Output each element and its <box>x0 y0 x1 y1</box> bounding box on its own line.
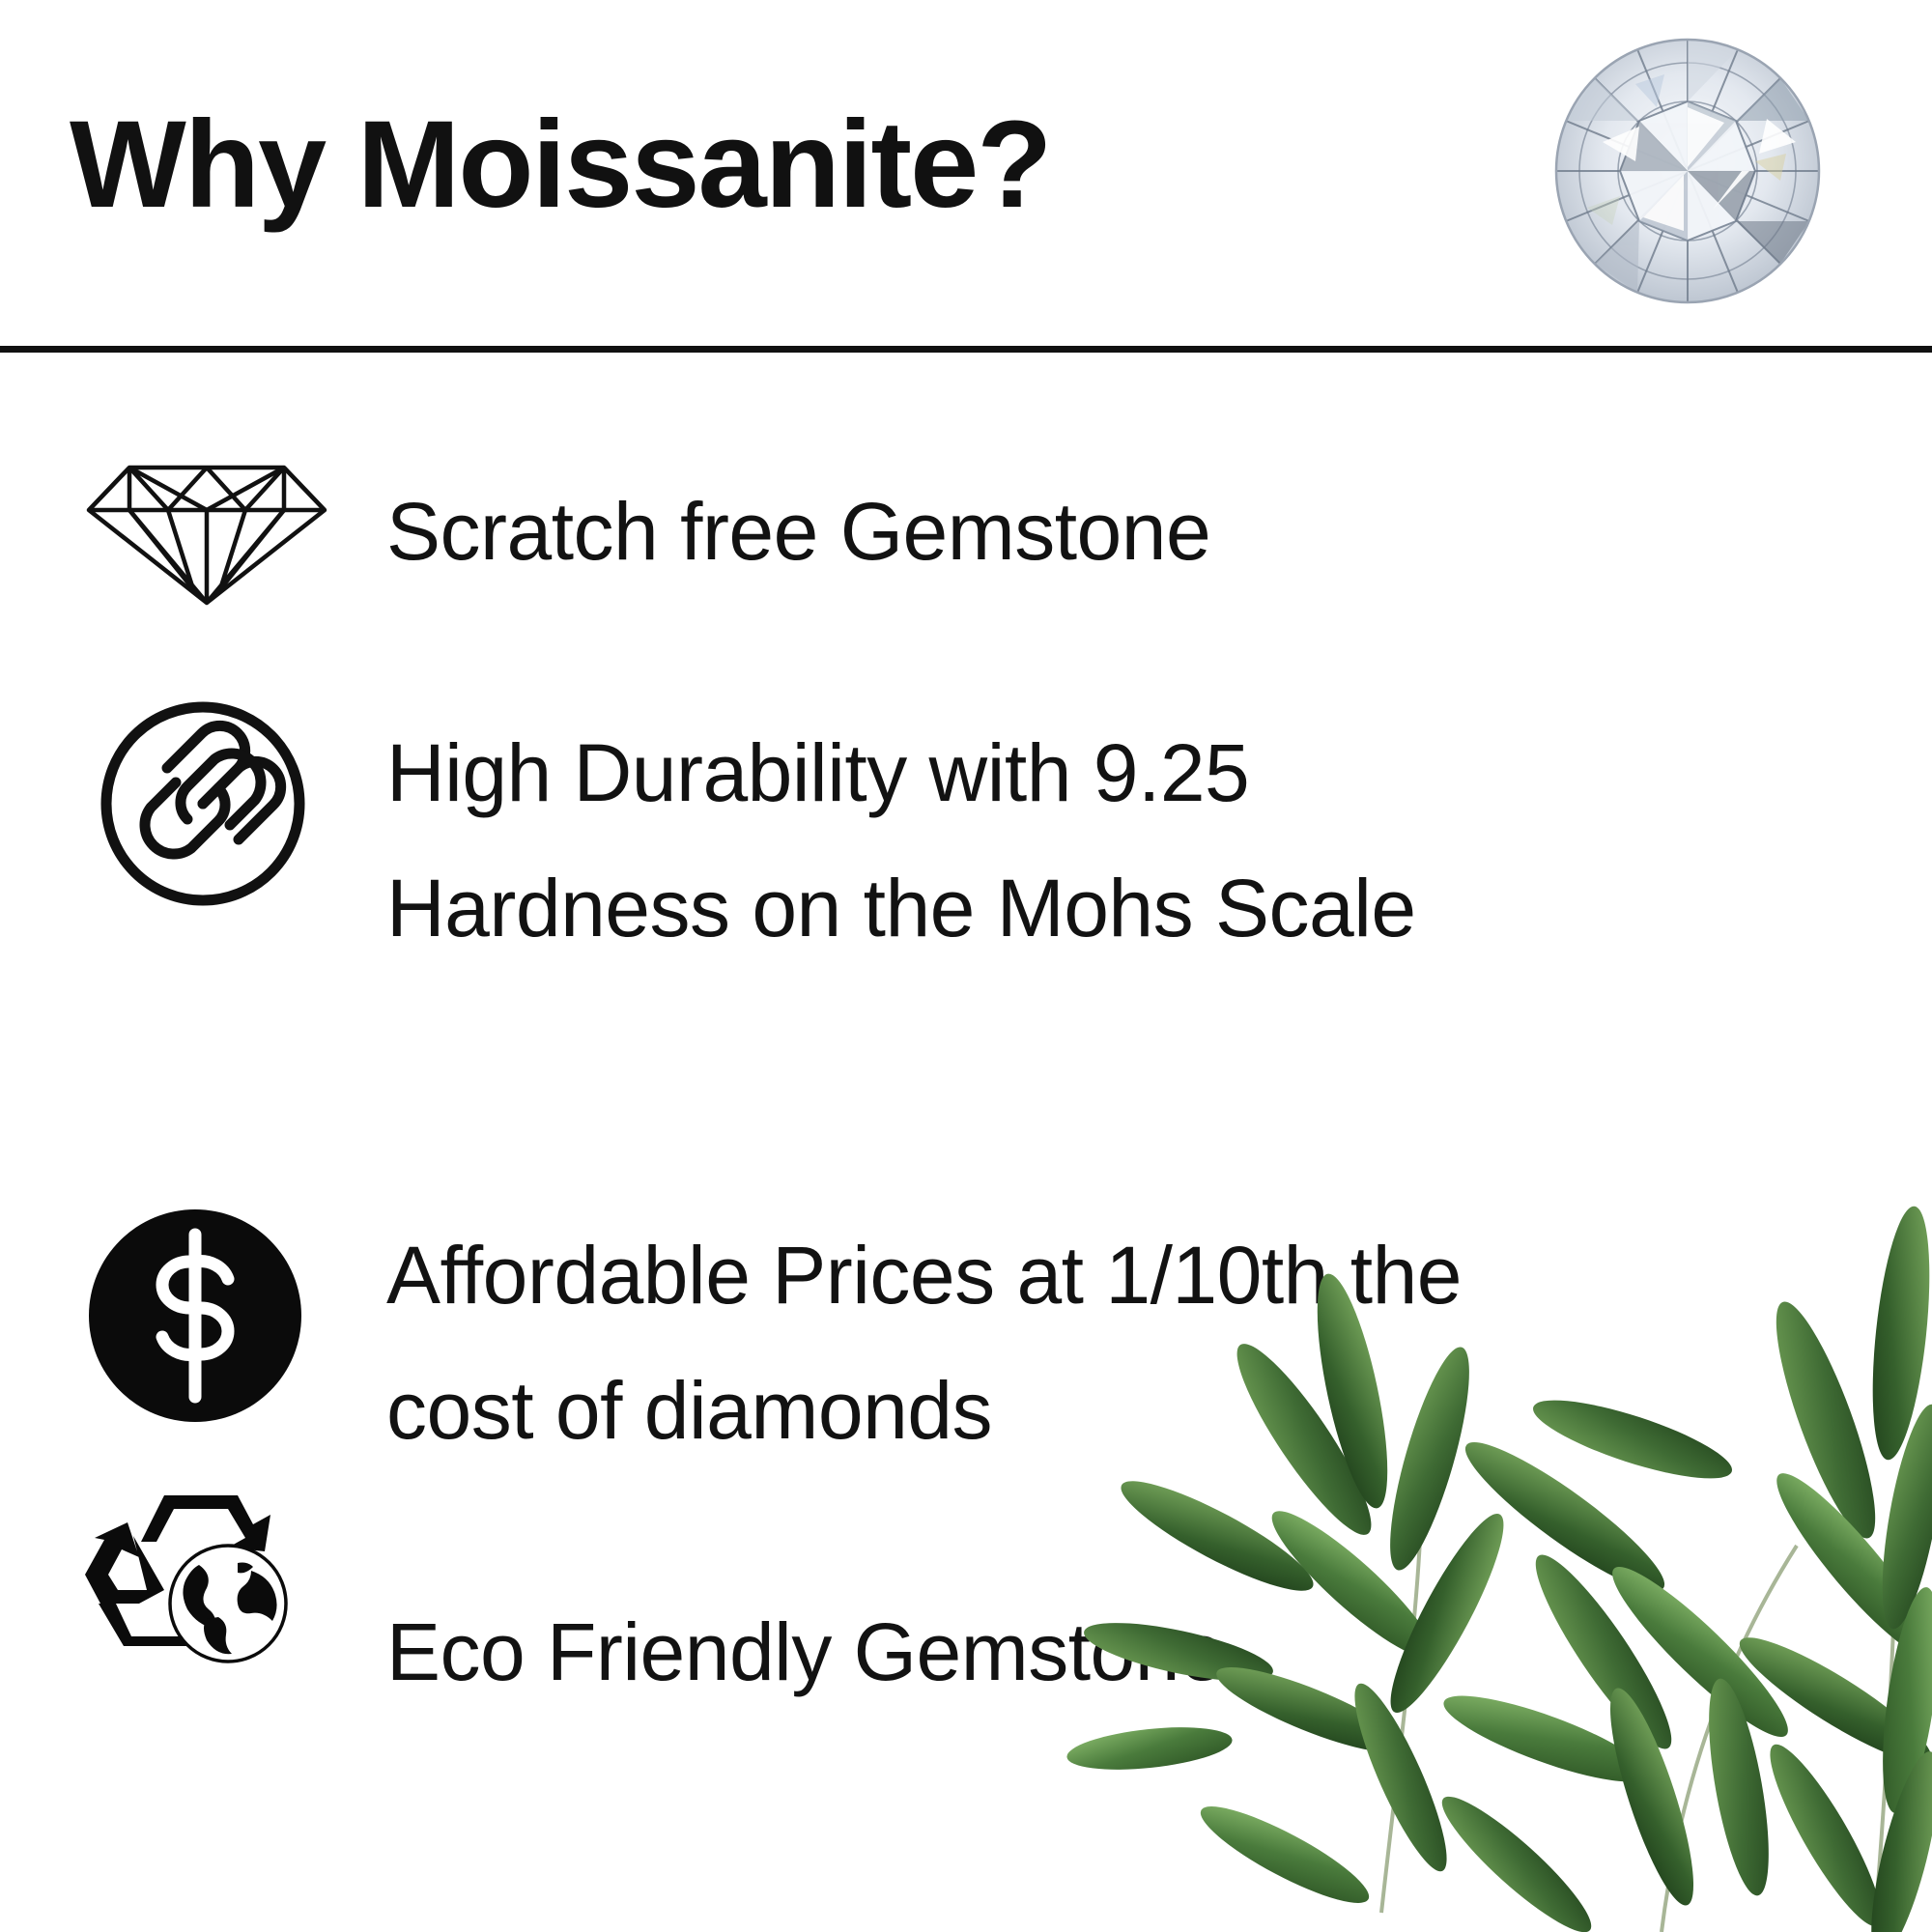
infographic-page: Why Moissanite? <box>0 0 1932 1932</box>
header: Why Moissanite? <box>0 0 1932 352</box>
feature-row-eco: Eco Friendly Gemstone <box>0 1478 1932 1758</box>
feature-label-eco: Eco Friendly Gemstone <box>386 1584 1224 1719</box>
feature-row-durability: High Durability with 9.25 Hardness on th… <box>0 676 1932 956</box>
recycle-globe-icon <box>71 1482 307 1665</box>
feature-label-affordable: Affordable Prices at 1/10th the cost of … <box>386 1207 1462 1478</box>
diamond-photo-image <box>1543 26 1833 316</box>
feature-row-scratch-free: Scratch free Gemstone <box>0 415 1932 638</box>
feature-row-affordable: Affordable Prices at 1/10th the cost of … <box>0 1188 1932 1468</box>
page-title: Why Moissanite? <box>70 100 1050 230</box>
feature-label-durability: High Durability with 9.25 Hardness on th… <box>386 705 1416 976</box>
feature-label-scratch-free: Scratch free Gemstone <box>386 464 1210 599</box>
diamond-outline-icon <box>77 454 336 609</box>
chain-link-circle-icon <box>95 696 311 912</box>
header-divider <box>0 346 1932 353</box>
dollar-coin-icon <box>83 1204 307 1428</box>
